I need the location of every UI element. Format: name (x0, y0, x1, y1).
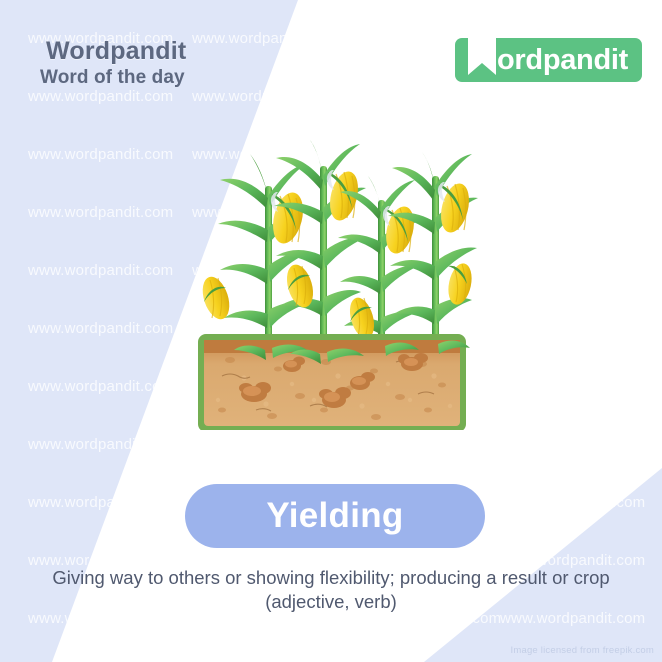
header: Wordpandit Word of the day (46, 38, 186, 89)
page-subtitle: Word of the day (40, 67, 186, 89)
word-of-the-day: Yielding (266, 496, 403, 536)
soil-bed (198, 334, 470, 430)
wordpandit-logo[interactable]: ordpandit (455, 38, 642, 82)
corn-plants (198, 140, 478, 368)
bookmark-icon (468, 27, 496, 75)
brand-title: Wordpandit (46, 38, 186, 64)
image-credit: Image licensed from freepik.com (511, 645, 654, 656)
logo-box: ordpandit (455, 38, 642, 82)
definition-meaning: Giving way to others or showing flexibil… (52, 567, 609, 588)
logo-text: ordpandit (497, 46, 642, 75)
part-of-speech: (adjective, verb) (0, 590, 662, 614)
word-banner: Yielding (185, 484, 485, 548)
corn-plant-4 (388, 152, 478, 366)
definition-block: Giving way to others or showing flexibil… (0, 566, 662, 615)
corn-field-illustration (160, 138, 500, 430)
poster-canvas: www.wordpandit.com www.wordpandit.com ww… (0, 0, 662, 662)
